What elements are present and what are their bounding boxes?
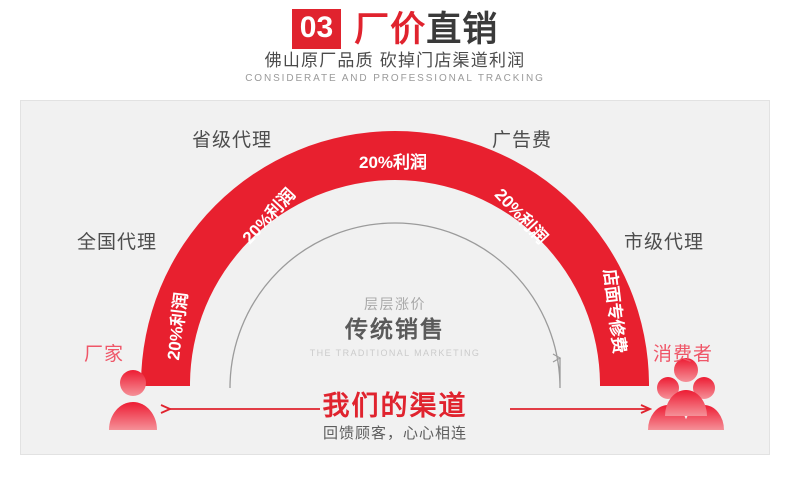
infographic-canvas: 03 厂价直销 佛山原厂品质 砍掉门店渠道利润 CONSIDERATE AND …	[0, 0, 790, 483]
red-arc-left-foot	[141, 383, 190, 386]
red-arc-right-foot	[600, 383, 649, 386]
node-label-city-agent: 市级代理	[624, 233, 704, 252]
title-highlight: 厂价	[354, 10, 426, 49]
title-rest: 直销	[426, 10, 498, 49]
header: 03 厂价直销 佛山原厂品质 砍掉门店渠道利润 CONSIDERATE AND …	[0, 0, 790, 96]
node-label-provincial-agent: 省级代理	[192, 131, 272, 150]
arc-label-profit-2: 20%利润	[359, 152, 427, 172]
node-label-advertising-fee: 广告费	[492, 131, 552, 150]
bottom-subline: 回馈顾客，心心相连	[0, 426, 790, 441]
node-label-national-agent: 全国代理	[77, 233, 157, 252]
page-title: 03 厂价直销	[0, 8, 790, 50]
subtitle-chinese: 佛山原厂品质 砍掉门店渠道利润	[0, 52, 790, 69]
section-number-badge: 03	[292, 9, 341, 49]
center-label-big: 传统销售	[0, 318, 790, 341]
bottom-headline: 我们的渠道	[0, 393, 790, 420]
center-label-english: THE TRADITIONAL MARKETING	[0, 349, 790, 358]
center-label-small: 层层涨价	[0, 297, 790, 311]
subtitle-english: CONSIDERATE AND PROFESSIONAL TRACKING	[0, 74, 790, 84]
